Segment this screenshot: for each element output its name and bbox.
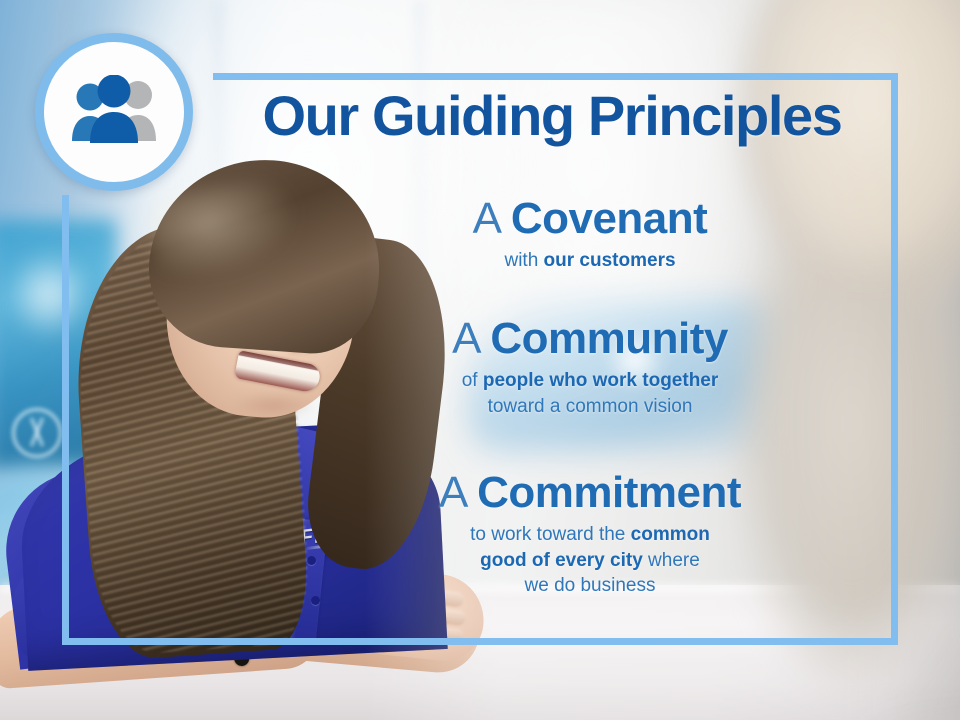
principle-keyword: Covenant — [511, 194, 707, 243]
principle-subtext: of people who work together toward a com… — [300, 368, 880, 419]
principle-heading: A Community — [300, 316, 880, 362]
principle-lead: A — [473, 194, 499, 243]
subtext-line-2: we do business — [525, 575, 656, 596]
subtext-bold: people who work together — [483, 370, 718, 391]
guiding-principles-graphic: FLOW AUTOMOTIVE FLOW — [0, 0, 960, 720]
subtext-line-2: toward a common vision — [488, 396, 693, 417]
subtext-bold: common — [631, 524, 710, 545]
principle-subtext: to work toward the common good of every … — [300, 522, 880, 599]
principle-community: A Community of people who work together … — [300, 316, 880, 419]
principle-subtext: with our customers — [300, 248, 880, 274]
people-group-badge — [35, 33, 193, 191]
subtext-plain: with — [504, 250, 543, 271]
principle-lead: A — [439, 468, 465, 517]
subtext-plain: of — [462, 370, 483, 391]
subtext-plain: to work toward the — [470, 524, 631, 545]
principle-lead: A — [452, 314, 478, 363]
page-title: Our Guiding Principles — [222, 88, 882, 144]
principle-heading: A Commitment — [300, 470, 880, 516]
people-group-icon — [62, 75, 166, 149]
principle-commitment: A Commitment to work toward the common g… — [300, 470, 880, 599]
subtext-bold-2: good of every city — [480, 550, 643, 571]
principle-heading: A Covenant — [300, 196, 880, 242]
principle-covenant: A Covenant with our customers — [300, 196, 880, 274]
principle-keyword: Community — [490, 314, 728, 363]
subtext-bold: our customers — [544, 250, 676, 271]
principle-keyword: Commitment — [477, 468, 741, 517]
subtext-plain-2: where — [643, 550, 700, 571]
